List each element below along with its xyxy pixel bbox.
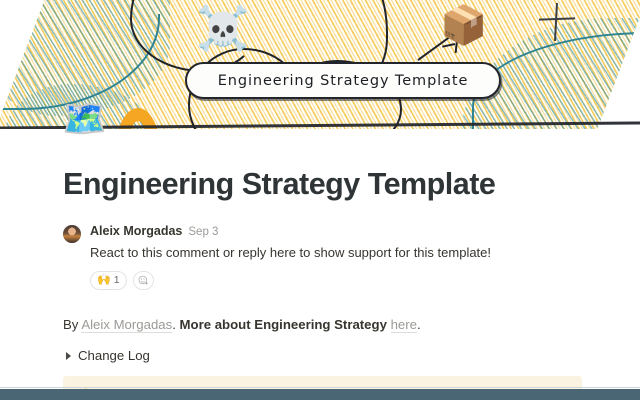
byline-here-link[interactable]: here [391, 317, 417, 333]
byline-paragraph: By Aleix Morgadas. More about Engineerin… [63, 315, 585, 335]
byline-prefix: By [63, 317, 81, 332]
byline-author-link[interactable]: Aleix Morgadas [81, 317, 172, 333]
reaction-pill-raising-hands[interactable]: 🙌 1 [90, 271, 127, 290]
page-title[interactable]: Engineering Strategy Template [63, 167, 585, 202]
raising-hands-icon: 🙌 [97, 275, 111, 286]
reaction-bar: 🙌 1 [90, 271, 585, 290]
cover-title-banner: Engineering Strategy Template [185, 62, 501, 99]
page-content: Engineering Strategy Template Aleix Morg… [0, 129, 640, 400]
comment-text: React to this comment or reply here to s… [90, 244, 585, 263]
byline-strong-text: More about Engineering Strategy [180, 317, 391, 332]
byline-suffix: . [417, 317, 421, 332]
comment-timestamp: Sep 3 [188, 226, 218, 240]
treasure-chest-icon: 📦 [440, 7, 487, 45]
byline-middle: . [172, 317, 179, 332]
page-icon-world-map-icon[interactable]: 🗺️ [62, 101, 107, 137]
bottom-window-bar [0, 389, 640, 400]
bottom-divider [0, 387, 640, 388]
add-reaction-smiley-icon [138, 275, 149, 286]
cover-banner-text: Engineering Strategy Template [218, 73, 469, 89]
chevron-right-icon[interactable] [66, 352, 71, 360]
reaction-count: 1 [114, 275, 120, 286]
add-reaction-button[interactable] [133, 271, 154, 290]
comment-author-name[interactable]: Aleix Morgadas [90, 224, 182, 239]
toggle-change-log[interactable]: Change Log [63, 348, 585, 363]
cover-cross-marker-icon [539, 3, 575, 41]
toggle-change-log-label: Change Log [78, 348, 150, 363]
page-root: ☠️ 📦 Engineering Strategy Template 🗺️ En… [0, 0, 640, 400]
comment-header: Aleix Morgadas Sep 3 [90, 224, 585, 240]
avatar[interactable] [63, 225, 81, 243]
skull-and-crossbones-icon: ☠️ [196, 8, 250, 51]
comment-thread: Aleix Morgadas Sep 3 React to this comme… [63, 224, 585, 290]
